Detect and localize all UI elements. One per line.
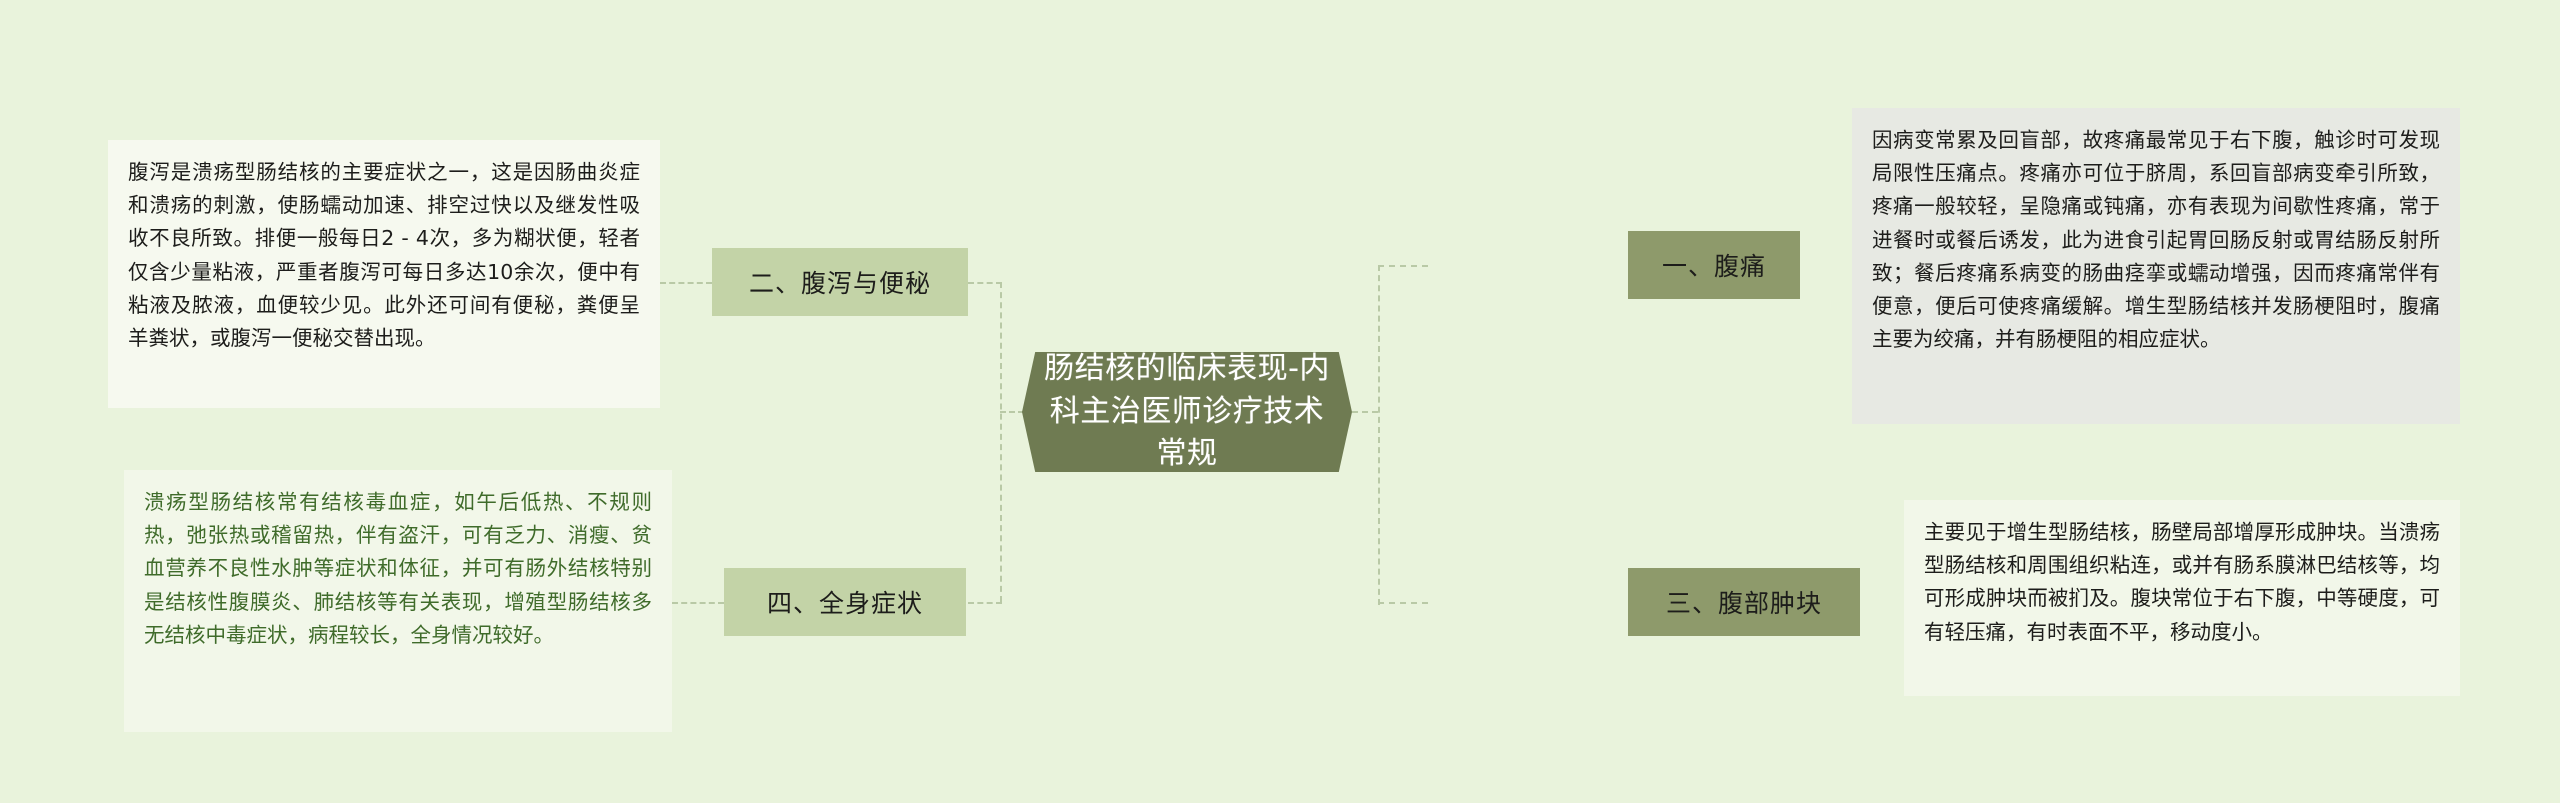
connector-branch4-out <box>672 602 724 604</box>
central-topic-label: 肠结核的临床表现-内科主治医师诊疗技术常规 <box>1037 348 1337 476</box>
branch-node-abdominal-mass[interactable]: 三、腹部肿块 <box>1628 568 1860 636</box>
branch-label-diarrhea-constipation: 二、腹泻与便秘 <box>749 264 931 300</box>
description-abdominal-pain: 因病变常累及回盲部，故疼痛最常见于右下腹，触诊时可发现局限性压痛点。疼痛亦可位于… <box>1852 108 2460 424</box>
description-systemic-symptoms: 溃疡型肠结核常有结核毒血症，如午后低热、不规则热，弛张热或稽留热，伴有盗汗，可有… <box>124 470 672 732</box>
connector-branch4-in <box>968 602 1002 604</box>
branch-label-abdominal-pain: 一、腹痛 <box>1662 247 1766 283</box>
description-text-abdominal-mass: 主要见于增生型肠结核，肠壁局部增厚形成肿块。当溃疡型肠结核和周围组织粘连，或并有… <box>1924 520 2440 644</box>
connector-branch2-out <box>660 282 712 284</box>
description-text-diarrhea-constipation: 腹泻是溃疡型肠结核的主要症状之一，这是因肠曲炎症和溃疡的刺激，使肠蠕动加速、排空… <box>128 160 640 350</box>
mindmap-canvas: 肠结核的临床表现-内科主治医师诊疗技术常规 二、腹泻与便秘 腹泻是溃疡型肠结核的… <box>0 0 2560 803</box>
connector-branch3-in <box>1378 602 1428 604</box>
description-diarrhea-constipation: 腹泻是溃疡型肠结核的主要症状之一，这是因肠曲炎症和溃疡的刺激，使肠蠕动加速、排空… <box>108 140 660 408</box>
branch-node-diarrhea-constipation[interactable]: 二、腹泻与便秘 <box>712 248 968 316</box>
description-abdominal-mass: 主要见于增生型肠结核，肠壁局部增厚形成肿块。当溃疡型肠结核和周围组织粘连，或并有… <box>1904 500 2460 696</box>
connector-center-right <box>1352 411 1378 413</box>
branch-node-abdominal-pain[interactable]: 一、腹痛 <box>1628 231 1800 299</box>
branch-label-abdominal-mass: 三、腹部肿块 <box>1666 584 1822 620</box>
branch-node-systemic-symptoms[interactable]: 四、全身症状 <box>724 568 966 636</box>
branch-label-systemic-symptoms: 四、全身症状 <box>767 584 923 620</box>
connector-center-left <box>1000 411 1024 413</box>
central-topic-node[interactable]: 肠结核的临床表现-内科主治医师诊疗技术常规 <box>1022 352 1352 472</box>
connector-right-spine <box>1378 265 1380 605</box>
connector-left-spine <box>1000 282 1002 602</box>
connector-branch2-in <box>968 282 1002 284</box>
description-text-systemic-symptoms: 溃疡型肠结核常有结核毒血症，如午后低热、不规则热，弛张热或稽留热，伴有盗汗，可有… <box>144 490 652 647</box>
connector-branch1-in <box>1378 265 1428 267</box>
description-text-abdominal-pain: 因病变常累及回盲部，故疼痛最常见于右下腹，触诊时可发现局限性压痛点。疼痛亦可位于… <box>1872 128 2440 351</box>
